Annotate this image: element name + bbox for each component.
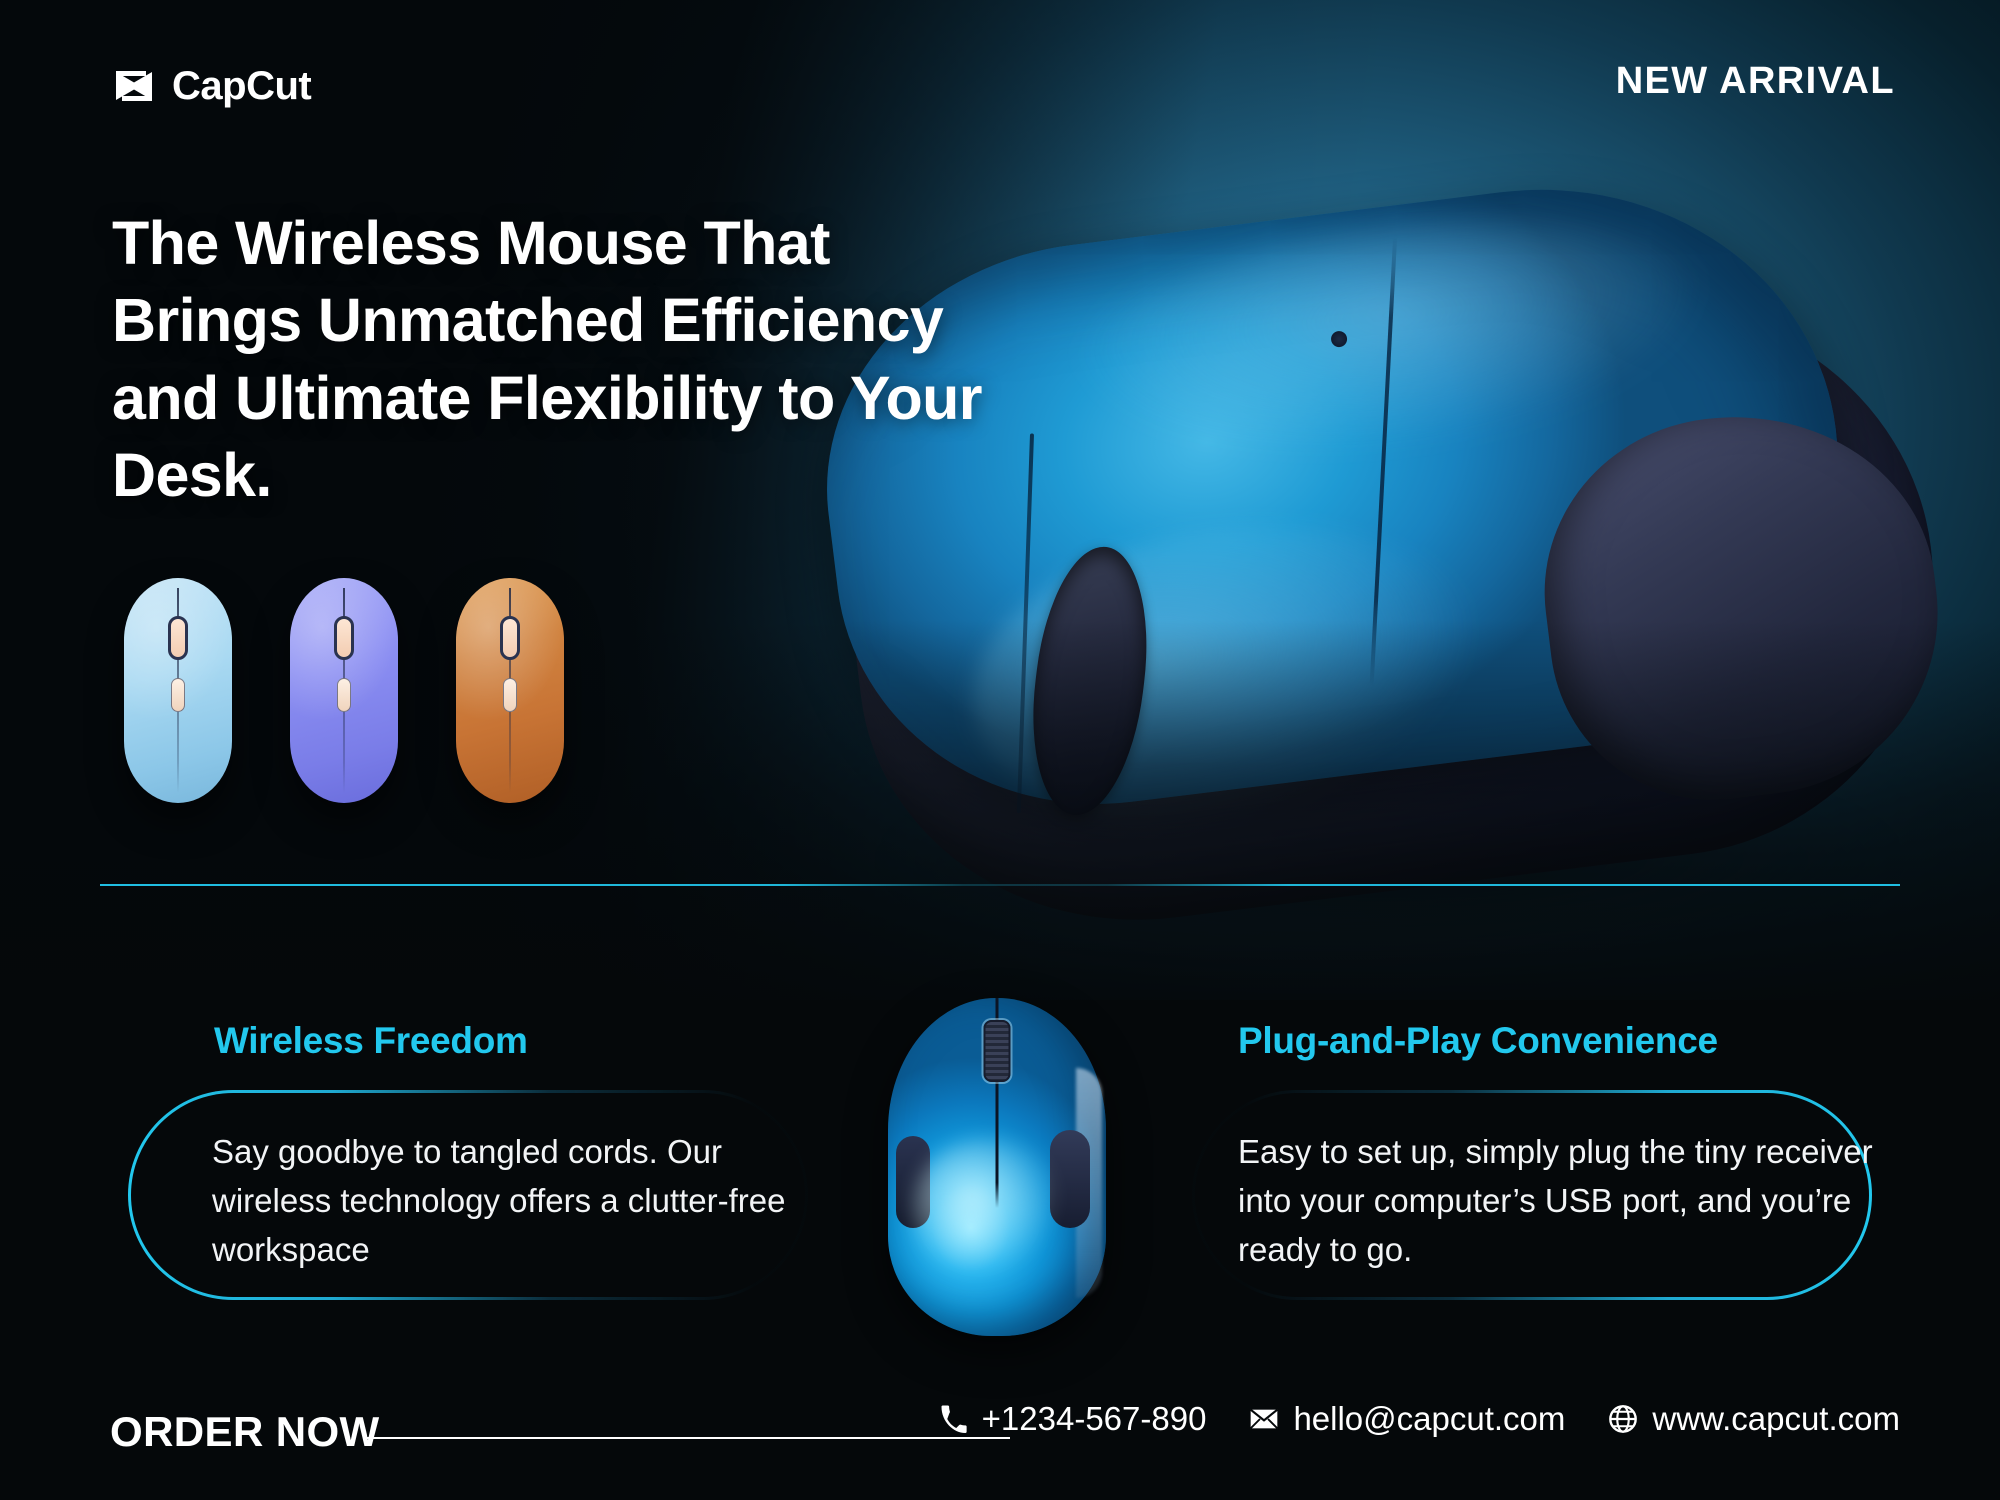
color-swatch-copper-orange[interactable] (456, 578, 564, 803)
feature-right: Plug-and-Play Convenience (1238, 1020, 1888, 1062)
feature-left: Wireless Freedom (214, 1020, 834, 1062)
feature-right-title: Plug-and-Play Convenience (1238, 1020, 1888, 1062)
phone-icon (939, 1404, 969, 1434)
center-mouse-image (888, 998, 1106, 1336)
contact-bar: +1234-567-890 hello@capcut.com (939, 1400, 1900, 1438)
contact-email[interactable]: hello@capcut.com (1248, 1400, 1565, 1438)
order-now-cta[interactable]: ORDER NOW (110, 1408, 380, 1456)
contact-phone[interactable]: +1234-567-890 (939, 1400, 1207, 1438)
globe-icon (1607, 1403, 1639, 1435)
new-arrival-badge: NEW ARRIVAL (1616, 60, 1895, 103)
swatch-scroll-wheel (168, 616, 188, 660)
contact-phone-value: +1234-567-890 (982, 1400, 1207, 1438)
order-now-rule (365, 1437, 1010, 1439)
feature-left-body: Say goodbye to tangled cords. Our wirele… (212, 1128, 822, 1274)
brand-logo[interactable]: CapCut (110, 62, 311, 110)
swatch-side-button (337, 678, 351, 712)
contact-website[interactable]: www.capcut.com (1607, 1400, 1900, 1438)
color-swatch-row (124, 578, 564, 803)
feature-left-title: Wireless Freedom (214, 1020, 834, 1062)
swatch-side-button (503, 678, 517, 712)
contact-email-value: hello@capcut.com (1293, 1400, 1565, 1438)
mail-icon (1248, 1403, 1280, 1435)
swatch-scroll-wheel (500, 616, 520, 660)
color-swatch-light-blue[interactable] (124, 578, 232, 803)
contact-website-value: www.capcut.com (1652, 1400, 1900, 1438)
feature-right-body: Easy to set up, simply plug the tiny rec… (1238, 1128, 1878, 1274)
product-poster: CapCut NEW ARRIVAL The Wireless Mouse Th… (0, 0, 2000, 1500)
center-mouse-scroll-wheel (984, 1020, 1011, 1082)
center-mouse-highlight (912, 1138, 1062, 1278)
brand-name: CapCut (172, 64, 311, 109)
section-divider (100, 884, 1900, 886)
swatch-scroll-wheel (334, 616, 354, 660)
color-swatch-periwinkle-purple[interactable] (290, 578, 398, 803)
page-title: The Wireless Mouse That Brings Unmatched… (112, 205, 1032, 515)
swatch-side-button (171, 678, 185, 712)
capcut-logo-icon (110, 62, 158, 110)
